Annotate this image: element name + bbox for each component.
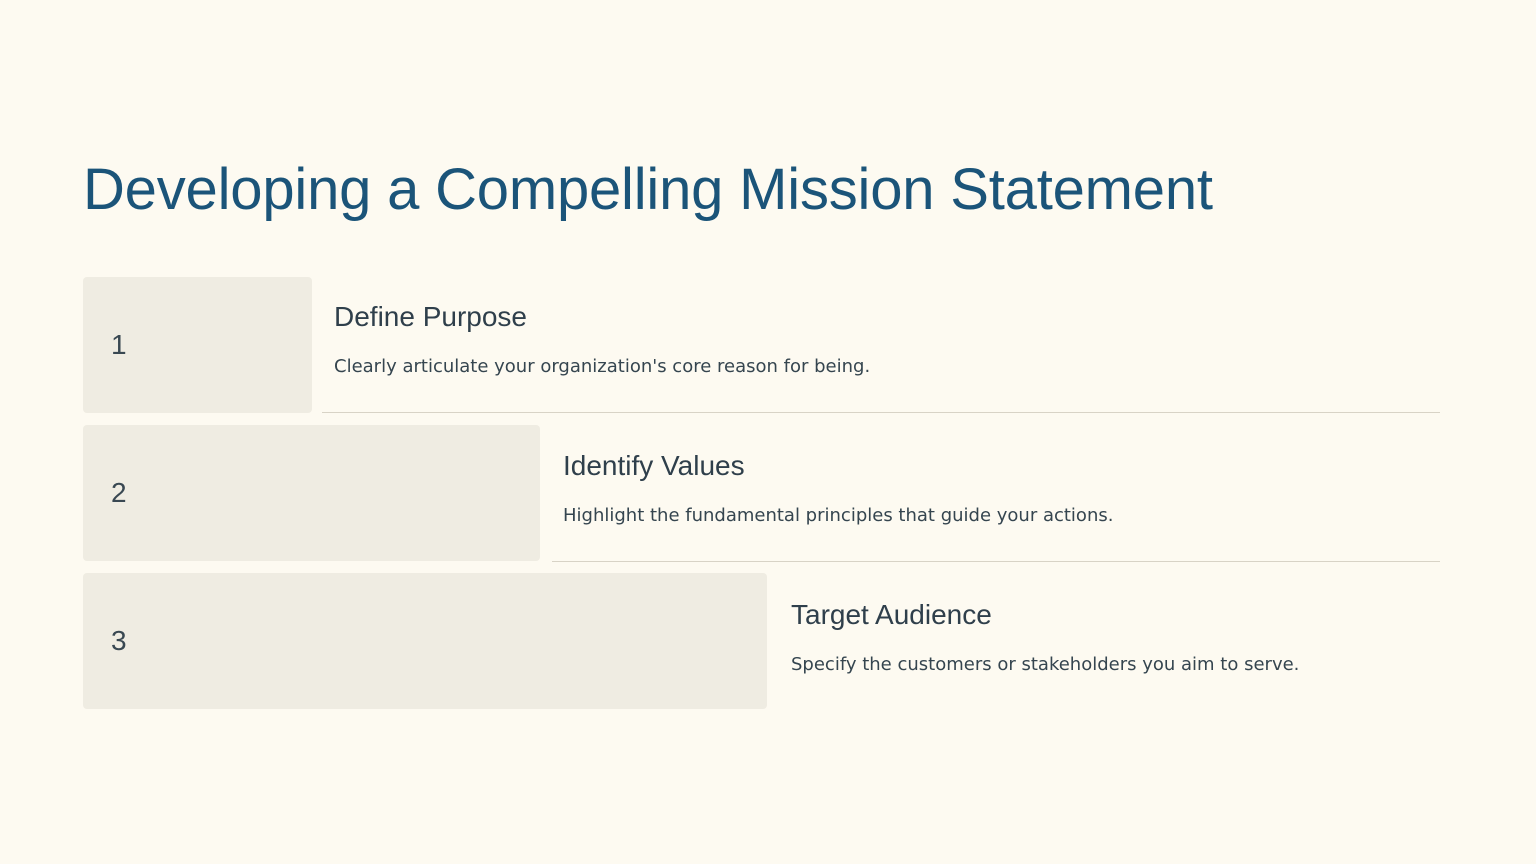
step-number-plate: 1 (83, 277, 312, 413)
steps-list: 1 Define Purpose Clearly articulate your… (0, 0, 1536, 864)
slide-canvas: Developing a Compelling Mission Statemen… (0, 0, 1536, 864)
step-number: 1 (111, 331, 127, 359)
step-text-block: Identify Values Highlight the fundamenta… (563, 449, 1113, 529)
step-number-plate: 2 (83, 425, 540, 561)
step-divider (552, 561, 1440, 562)
step-heading: Identify Values (563, 449, 1113, 483)
step-number-plate: 3 (83, 573, 767, 709)
step-number: 3 (111, 627, 127, 655)
step-text-block: Define Purpose Clearly articulate your o… (334, 300, 870, 380)
step-heading: Target Audience (791, 598, 1299, 632)
step-text-block: Target Audience Specify the customers or… (791, 598, 1299, 678)
step-divider (322, 412, 1440, 413)
step-heading: Define Purpose (334, 300, 870, 334)
step-description: Highlight the fundamental principles tha… (563, 503, 1113, 529)
step-description: Specify the customers or stakeholders yo… (791, 652, 1299, 678)
step-description: Clearly articulate your organization's c… (334, 354, 870, 380)
step-number: 2 (111, 479, 127, 507)
